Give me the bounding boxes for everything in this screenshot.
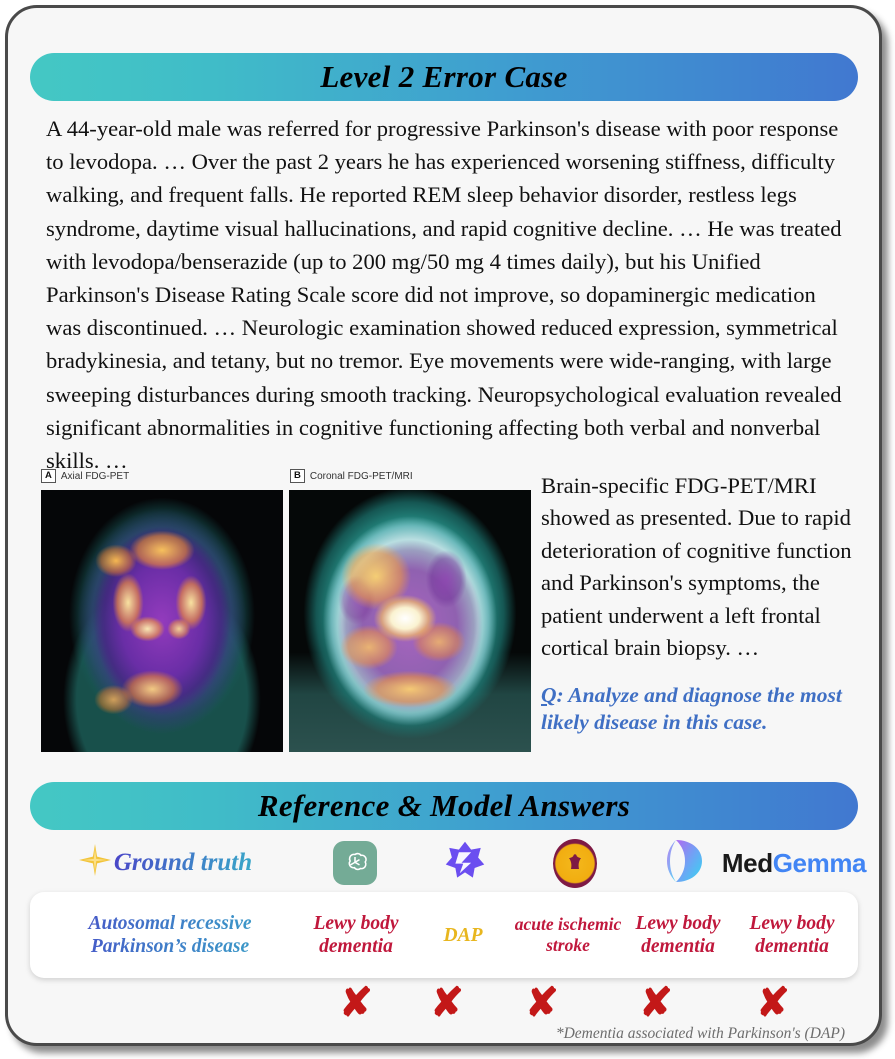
model-logos-row: Ground truth	[30, 836, 858, 890]
answer-text-medgemma: Lewy body dementia	[734, 912, 850, 958]
medgemma-wordmark-gemma: Gemma	[773, 848, 866, 878]
coronal-fdg-pet-mri-image	[289, 490, 531, 752]
gemma-icon	[664, 838, 706, 889]
medgemma-wordmark-med: Med	[722, 848, 773, 878]
case-description: A 44-year-old male was referred for prog…	[46, 112, 846, 477]
answer-text-gemini: DAP	[444, 924, 483, 947]
panel-b-caption: Coronal FDG-PET/MRI	[310, 471, 413, 482]
gemini-icon	[444, 840, 486, 887]
level-banner: Level 2 Error Case	[30, 53, 858, 101]
error-case-card: Level 2 Error Case A 44-year-old male wa…	[5, 5, 882, 1046]
openai-icon	[333, 841, 377, 885]
medgemma-wordmark: MedGemma	[722, 848, 866, 879]
university-seal-logo-cell	[520, 836, 630, 890]
imaging-note-text: Brain-specific FDG-PET/MRI showed as pre…	[541, 470, 871, 664]
verdict-marks-row: ✘ ✘ ✘ ✘ ✘	[30, 982, 858, 1024]
answer-cell-gemini: DAP	[412, 892, 514, 978]
panel-a-label-group: A Axial FDG-PET	[41, 466, 290, 486]
answer-cell-openai: Lewy body dementia	[300, 892, 412, 978]
cross-icon-gemini: ✘	[424, 982, 470, 1024]
answer-text-ground-truth: Autosomal recessive Parkinson’s disease	[40, 912, 300, 958]
cross-icon-university: ✘	[519, 982, 565, 1024]
medgemma-logo-cell: MedGemma	[730, 836, 858, 890]
cross-icon-gemma: ✘	[633, 982, 679, 1024]
imaging-note-column: Brain-specific FDG-PET/MRI showed as pre…	[541, 470, 871, 736]
ground-truth-label: Ground truth	[114, 849, 252, 877]
answers-panel: Autosomal recessive Parkinson’s disease …	[30, 892, 858, 978]
question-prefix: Q	[541, 683, 557, 707]
answer-text-openai: Lewy body dementia	[300, 912, 412, 958]
answers-banner-title: Reference & Model Answers	[258, 788, 630, 824]
question-body: : Analyze and diagnose the most likely d…	[541, 683, 842, 734]
answer-cell-university: acute ischemic stroke	[514, 892, 622, 978]
footnote: *Dementia associated with Parkinson's (D…	[556, 1025, 845, 1043]
cross-icon-openai: ✘	[333, 982, 379, 1024]
answers-banner: Reference & Model Answers	[30, 782, 858, 830]
gemini-logo-cell	[410, 836, 520, 890]
answer-cell-medgemma: Lewy body dementia	[734, 892, 850, 978]
university-seal-icon	[553, 839, 597, 888]
panel-a-badge: A	[41, 469, 56, 483]
panel-a-caption: Axial FDG-PET	[61, 471, 129, 482]
answer-text-gemma: Lewy body dementia	[622, 912, 734, 958]
star-icon	[78, 843, 112, 877]
figure-panel-labels: A Axial FDG-PET B Coronal FDG-PET/MRI	[41, 466, 535, 486]
panel-b-badge: B	[290, 469, 305, 483]
answer-text-university: acute ischemic stroke	[514, 914, 622, 955]
openai-logo-cell	[300, 836, 410, 890]
axial-fdg-pet-image	[41, 490, 283, 752]
level-banner-title: Level 2 Error Case	[320, 59, 567, 95]
answer-cell-ground-truth: Autosomal recessive Parkinson’s disease	[40, 892, 300, 978]
panel-b-label-group: B Coronal FDG-PET/MRI	[290, 466, 413, 486]
question-text: Q: Analyze and diagnose the most likely …	[541, 682, 871, 736]
figure-block: A Axial FDG-PET B Coronal FDG-PET/MRI	[41, 466, 535, 752]
cross-icon-medgemma: ✘	[750, 982, 796, 1024]
answer-cell-gemma: Lewy body dementia	[622, 892, 734, 978]
ground-truth-logo-cell: Ground truth	[30, 836, 300, 890]
scan-images	[41, 490, 535, 752]
